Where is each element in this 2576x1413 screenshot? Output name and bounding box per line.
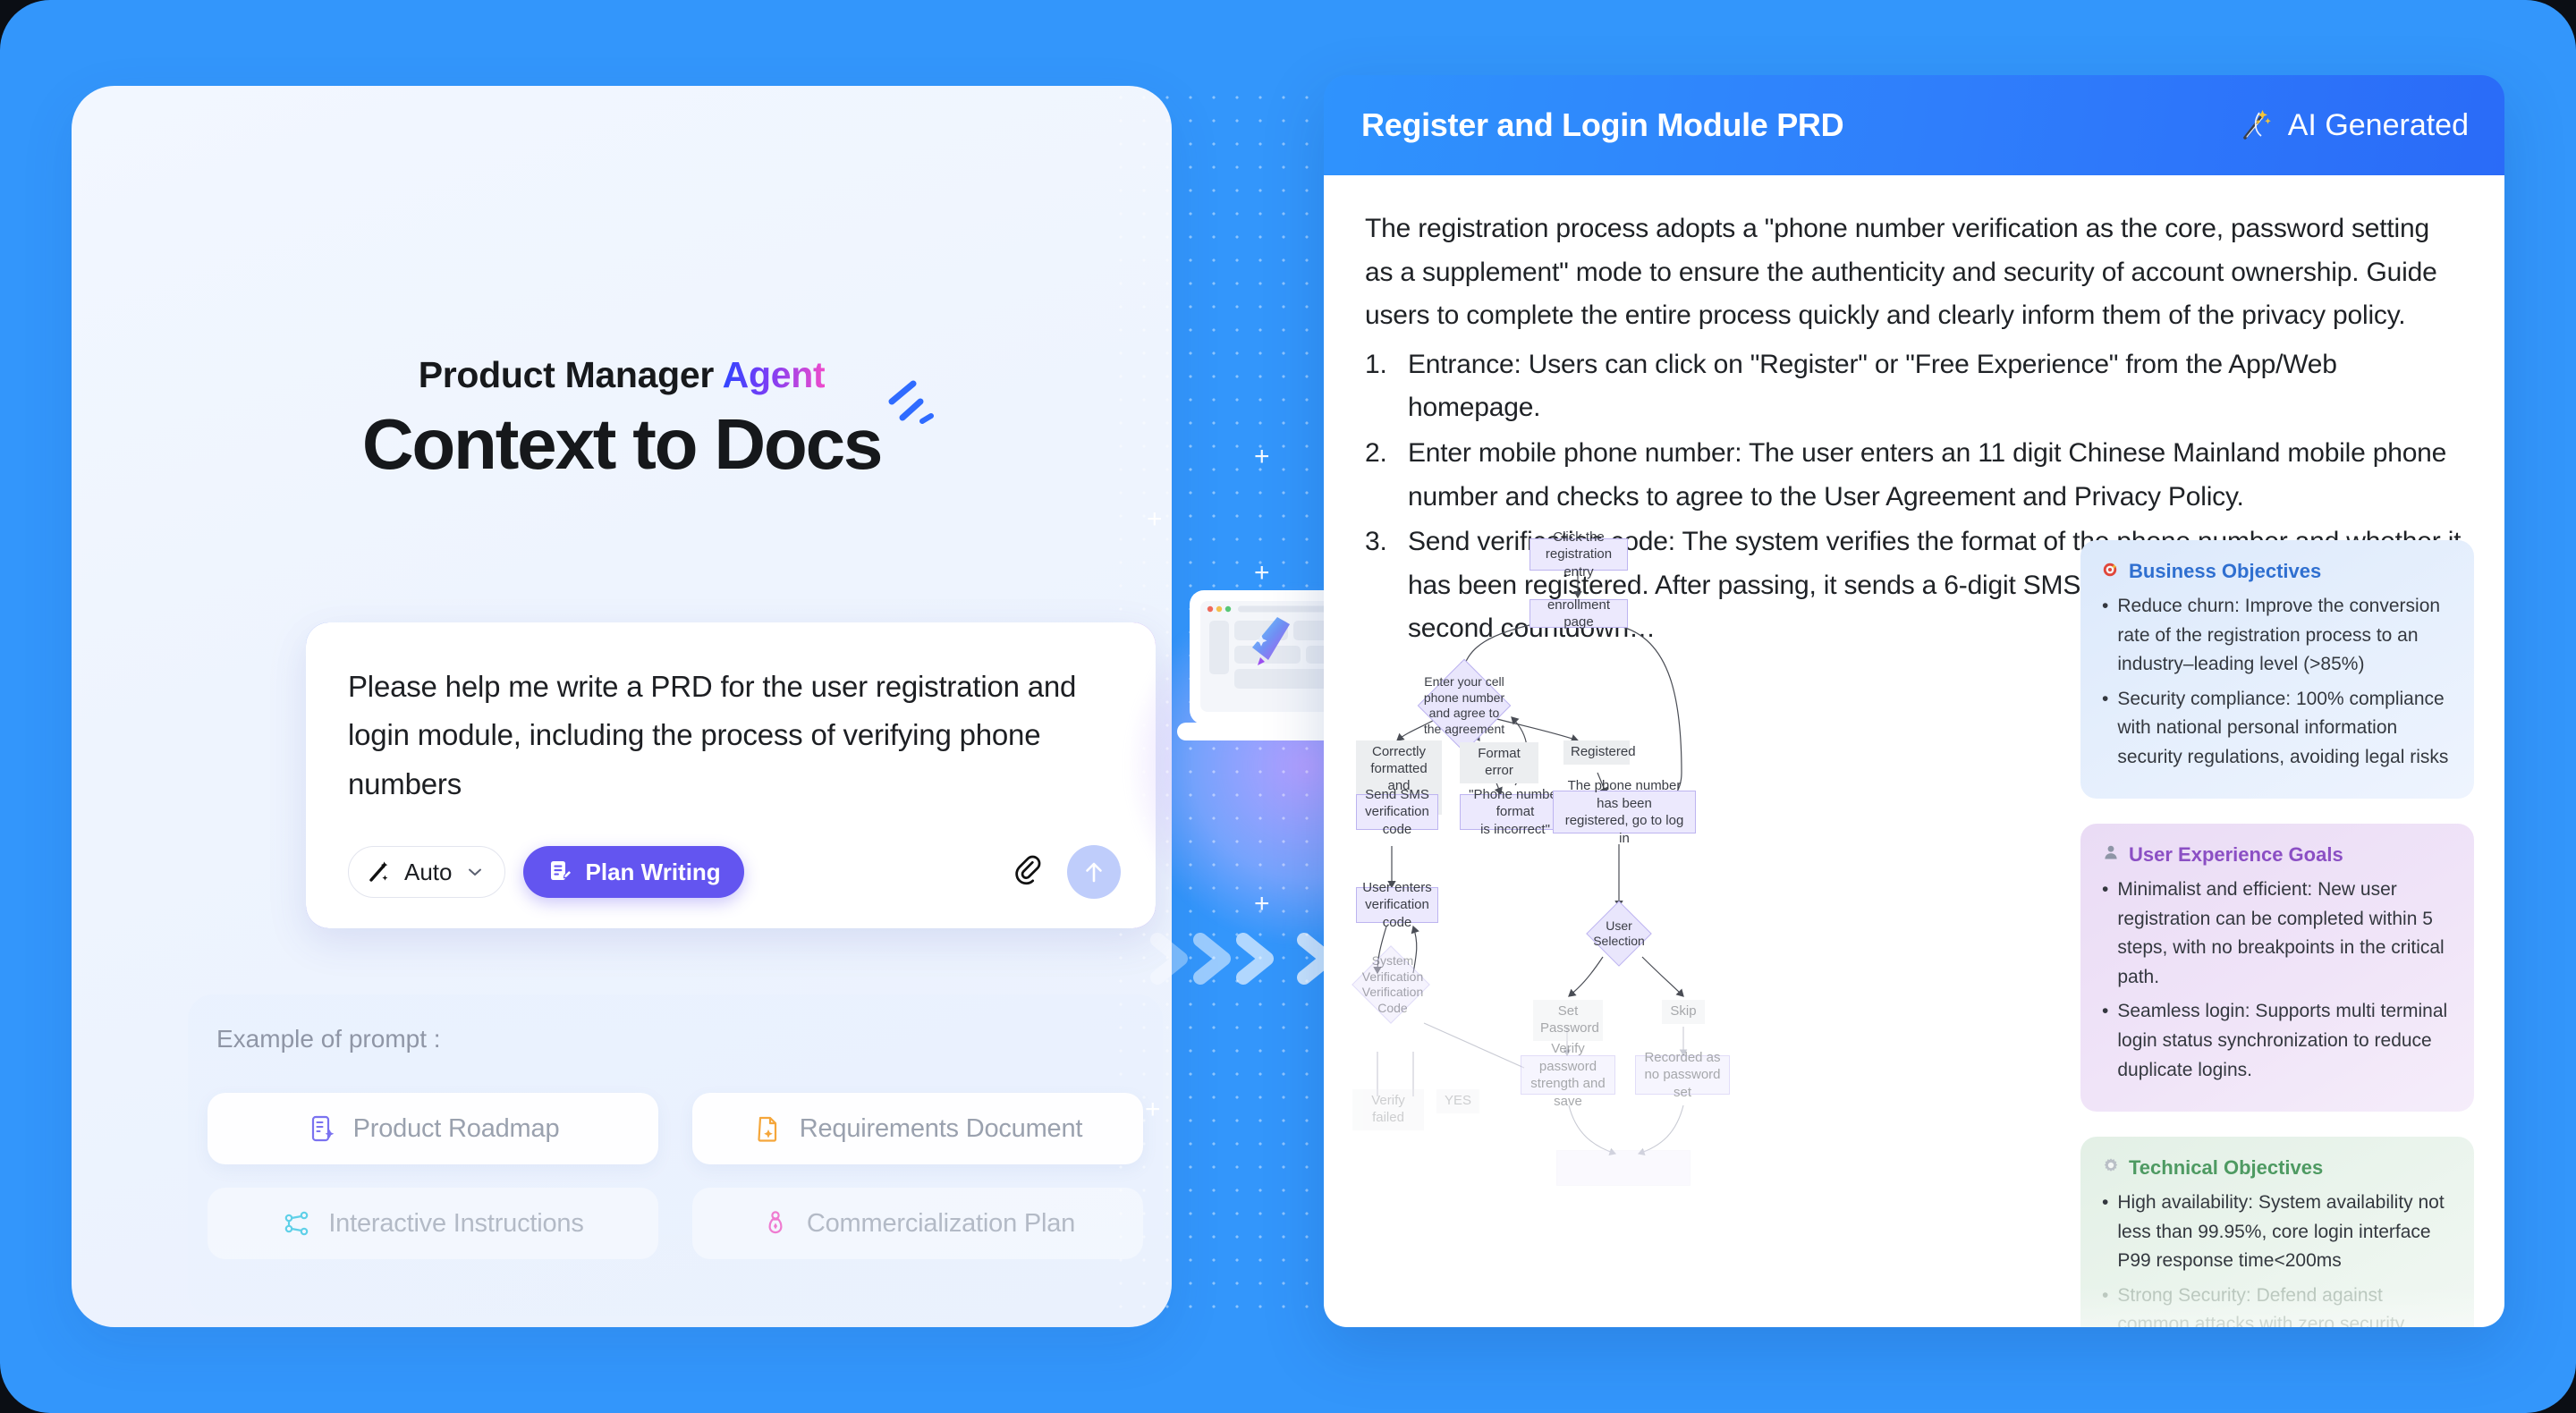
flow-node-label: The phone number has been registered, go… — [1559, 777, 1690, 847]
bullet-icon: • — [2102, 1189, 2108, 1276]
list-item-text: Seamless login: Supports multi terminal … — [2117, 997, 2453, 1085]
sparkle-icon — [886, 378, 935, 432]
flow-edge-label-yes: YES — [1436, 1089, 1479, 1113]
flow-node-no-password: Recorded as no password set — [1635, 1055, 1730, 1095]
document-icon — [753, 1113, 784, 1144]
flow-edge-label-set-password: Set Password — [1533, 1000, 1603, 1041]
flow-node-start: Click the registration entry — [1529, 538, 1628, 571]
roadmap-icon — [307, 1113, 337, 1144]
card-title-text: Business Objectives — [2129, 560, 2321, 583]
headline-block: Product Manager Agent Context to Docs — [72, 354, 1172, 480]
flow-node-label-wrap: System Verification Verification Code — [1351, 948, 1435, 1021]
flow-node-label: System Verification Verification Code — [1362, 953, 1423, 1016]
flowchart-edges — [1354, 533, 2034, 1327]
list-item: •Reduce churn: Improve the conversion ra… — [2102, 592, 2453, 680]
example-chip-label: Product Roadmap — [353, 1114, 560, 1144]
list-item-text: Security compliance: 100% compliance wit… — [2117, 685, 2453, 773]
list-item-text: Minimalist and efficient: New user regis… — [2117, 876, 2453, 992]
flow-edge-label: Verify failed — [1371, 1093, 1405, 1125]
step-text: Enter mobile phone number: The user ente… — [1408, 432, 2463, 519]
bullet-icon: • — [2102, 1282, 2108, 1327]
flow-node-enrollment-page: enrollment page — [1529, 599, 1628, 628]
bullet-icon: • — [2102, 876, 2108, 992]
share-nodes-icon — [282, 1208, 312, 1239]
flow-node-verify-password: Verify password strength and save — [1521, 1055, 1615, 1095]
card-title-row: Technical Objectives — [2102, 1156, 2453, 1180]
example-chip-label: Commercialization Plan — [807, 1209, 1075, 1239]
paperclip-icon — [1012, 854, 1047, 890]
flow-edge-label: Registered — [1571, 744, 1636, 759]
card-title-text: Technical Objectives — [2129, 1156, 2323, 1180]
example-chip-label: Requirements Document — [800, 1114, 1083, 1144]
list-item: • Strong Security: Defend against common… — [2102, 1282, 2453, 1327]
flow-node-already-registered: The phone number has been registered, go… — [1553, 791, 1696, 833]
bullet-icon: • — [2102, 592, 2108, 680]
examples-section: Example of prompt : Produc — [188, 994, 1163, 1316]
step-number: 1. — [1365, 343, 1395, 430]
flow-node-label: User Selection — [1593, 918, 1645, 950]
example-chip-product-roadmap[interactable]: Product Roadmap — [208, 1093, 658, 1164]
attach-button[interactable] — [1010, 852, 1049, 892]
page-title-text: Context to Docs — [362, 404, 881, 484]
document-edit-icon — [547, 859, 573, 885]
plus-icon: + — [1254, 891, 1270, 918]
mode-select[interactable]: Auto — [348, 846, 505, 898]
example-chip-commercialization-plan[interactable]: Commercialization Plan — [692, 1188, 1143, 1259]
list-item: 1.Entrance: Users can click on "Register… — [1365, 343, 2463, 430]
magic-wand-icon — [367, 859, 392, 884]
ai-generated-badge: AI Generated — [2238, 107, 2469, 143]
document-title: Register and Login Module PRD — [1361, 106, 1843, 144]
flow-node-label: Click the registration entry — [1536, 529, 1622, 581]
flow-node-label: "Phone number format is incorrect" — [1466, 786, 1564, 839]
card-list: •High availability: System availability … — [2102, 1189, 2453, 1327]
plan-writing-label: Plan Writing — [586, 859, 721, 886]
step-number: 2. — [1365, 432, 1395, 519]
flow-edge-label: Set Password — [1540, 1003, 1599, 1036]
document-panel: Register and Login Module PRD AI Generat… — [1324, 75, 2504, 1327]
flow-node-send-sms: Send SMS verification code — [1356, 794, 1438, 830]
page-eyebrow: Product Manager Agent — [72, 354, 1172, 396]
prompt-toolbar: Auto — [348, 845, 1121, 899]
list-item: • Seamless login: Supports multi termina… — [2102, 997, 2453, 1085]
registration-flowchart: Click the registration entry enrollment … — [1354, 533, 2034, 1327]
flow-node-label-wrap: User Selection — [1589, 909, 1649, 959]
mode-select-label: Auto — [404, 859, 453, 886]
flow-edge-label-registered: Registered — [1563, 740, 1630, 765]
card-business-objectives: Business Objectives •Reduce churn: Impro… — [2080, 540, 2474, 799]
page-title: Context to Docs — [362, 409, 881, 480]
flow-node-label-wrap: Enter your cell phone number and agree t… — [1419, 673, 1510, 739]
bullet-icon: • — [2102, 997, 2108, 1085]
card-technical-objectives: Technical Objectives •High availability:… — [2080, 1137, 2474, 1327]
gear-icon — [2102, 1156, 2120, 1180]
example-chips-grid: Product Roadmap Requirements Document — [208, 1093, 1143, 1259]
objectives-cards-column: Business Objectives •Reduce churn: Impro… — [2080, 540, 2474, 1327]
prompt-input-value[interactable]: Please help me write a PRD for the user … — [348, 663, 1114, 808]
flow-node-label: Verify password strength and save — [1527, 1040, 1609, 1110]
eyebrow-accent: Agent — [723, 354, 826, 395]
examples-label: Example of prompt : — [216, 1025, 441, 1053]
card-user-experience-goals: User Experience Goals •Minimalist and ef… — [2080, 824, 2474, 1112]
flow-edge-label: YES — [1445, 1093, 1471, 1108]
flow-node-enter-code: User enters verification code — [1356, 887, 1438, 923]
bullet-icon: • — [2102, 685, 2108, 773]
list-item-text: High availability: System availability n… — [2117, 1189, 2453, 1276]
example-chip-label: Interactive Instructions — [328, 1209, 583, 1239]
card-title-row: User Experience Goals — [2102, 843, 2453, 867]
list-item-text: Reduce churn: Improve the conversion rat… — [2117, 592, 2453, 680]
prompt-input-box[interactable]: Please help me write a PRD for the user … — [306, 622, 1156, 928]
step-text: Entrance: Users can click on "Register" … — [1408, 343, 2463, 430]
plus-icon: + — [1254, 444, 1270, 470]
flow-edge-label: Format error — [1478, 746, 1521, 778]
document-paragraph: The registration process adopts a "phone… — [1365, 207, 2463, 338]
send-button[interactable] — [1067, 845, 1121, 899]
magic-wand-sparkle-icon — [2238, 107, 2274, 143]
list-item: •Minimalist and efficient: New user regi… — [2102, 876, 2453, 992]
arrow-up-icon — [1079, 857, 1109, 887]
document-lower-content: Click the registration entry enrollment … — [1324, 533, 2504, 1327]
plan-writing-button[interactable]: Plan Writing — [523, 846, 744, 898]
flow-edge-label-format-error: Format error — [1460, 742, 1538, 783]
flow-edge-label-skip: Skip — [1662, 1000, 1705, 1024]
plus-icon: + — [1254, 560, 1270, 587]
card-title-row: Business Objectives — [2102, 560, 2453, 583]
flow-node-hidden — [1556, 1150, 1690, 1186]
list-item: 2.Enter mobile phone number: The user en… — [1365, 432, 2463, 519]
app-root: Product Manager Agent Context to Docs — [0, 0, 2576, 1413]
flow-node-label: enrollment page — [1536, 597, 1622, 631]
card-list: •Minimalist and efficient: New user regi… — [2102, 876, 2453, 1085]
ai-generated-label: AI Generated — [2288, 108, 2469, 143]
document-header: Register and Login Module PRD AI Generat… — [1324, 75, 2504, 175]
flow-node-label: Enter your cell phone number and agree t… — [1424, 674, 1504, 737]
list-item: •High availability: System availability … — [2102, 1189, 2453, 1276]
card-list: •Reduce churn: Improve the conversion ra… — [2102, 592, 2453, 772]
flow-node-label: User enters verification code — [1362, 879, 1432, 932]
flow-edge-label: Skip — [1670, 1003, 1696, 1019]
card-title-text: User Experience Goals — [2129, 843, 2343, 867]
prompt-panel: Product Manager Agent Context to Docs — [72, 86, 1172, 1327]
example-chip-interactive-instructions[interactable]: Interactive Instructions — [208, 1188, 658, 1259]
list-item-text: Strong Security: Defend against common a… — [2117, 1282, 2453, 1327]
flow-node-label: Send SMS verification code — [1362, 786, 1432, 839]
document-body: The registration process adopts a "phone… — [1324, 175, 2504, 1327]
list-item: • Security compliance: 100% compliance w… — [2102, 685, 2453, 773]
flow-node-label: Recorded as no password set — [1641, 1049, 1724, 1102]
example-chip-requirements-document[interactable]: Requirements Document — [692, 1093, 1143, 1164]
flow-edge-label-verify-failed: Verify failed — [1352, 1089, 1424, 1130]
rocket-icon — [760, 1208, 791, 1239]
user-icon — [2102, 843, 2120, 867]
chevron-down-icon — [465, 862, 485, 882]
eyebrow-prefix: Product Manager — [419, 354, 723, 395]
target-icon — [2102, 560, 2120, 583]
